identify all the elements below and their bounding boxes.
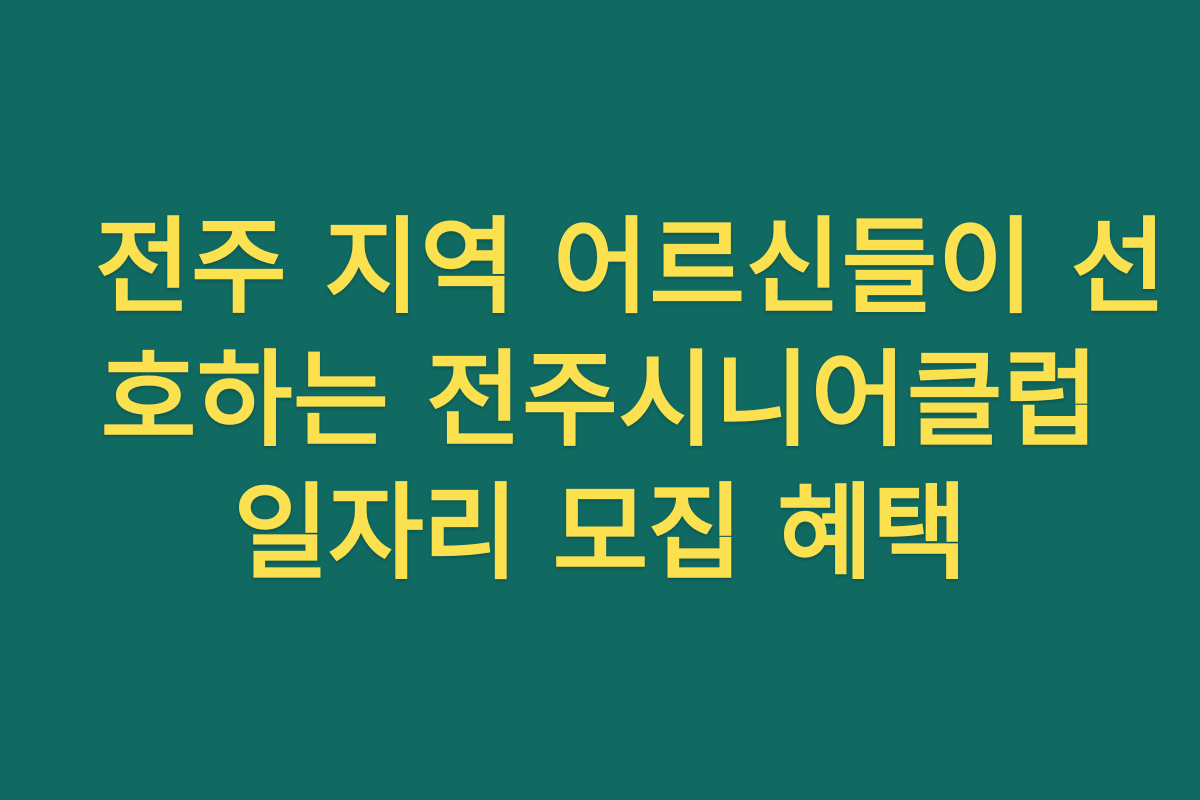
headline-text-block: 전주 지역 어르신들이 선 호하는 전주시니어클럽 일자리 모집 혜택: [95, 201, 1105, 600]
headline-line-1: 전주 지역 어르신들이 선: [95, 201, 1105, 334]
headline-line-3: 일자리 모집 혜택: [95, 467, 1105, 600]
banner-canvas: 전주 지역 어르신들이 선 호하는 전주시니어클럽 일자리 모집 혜택: [0, 0, 1200, 800]
headline-line-2: 호하는 전주시니어클럽: [95, 334, 1105, 467]
